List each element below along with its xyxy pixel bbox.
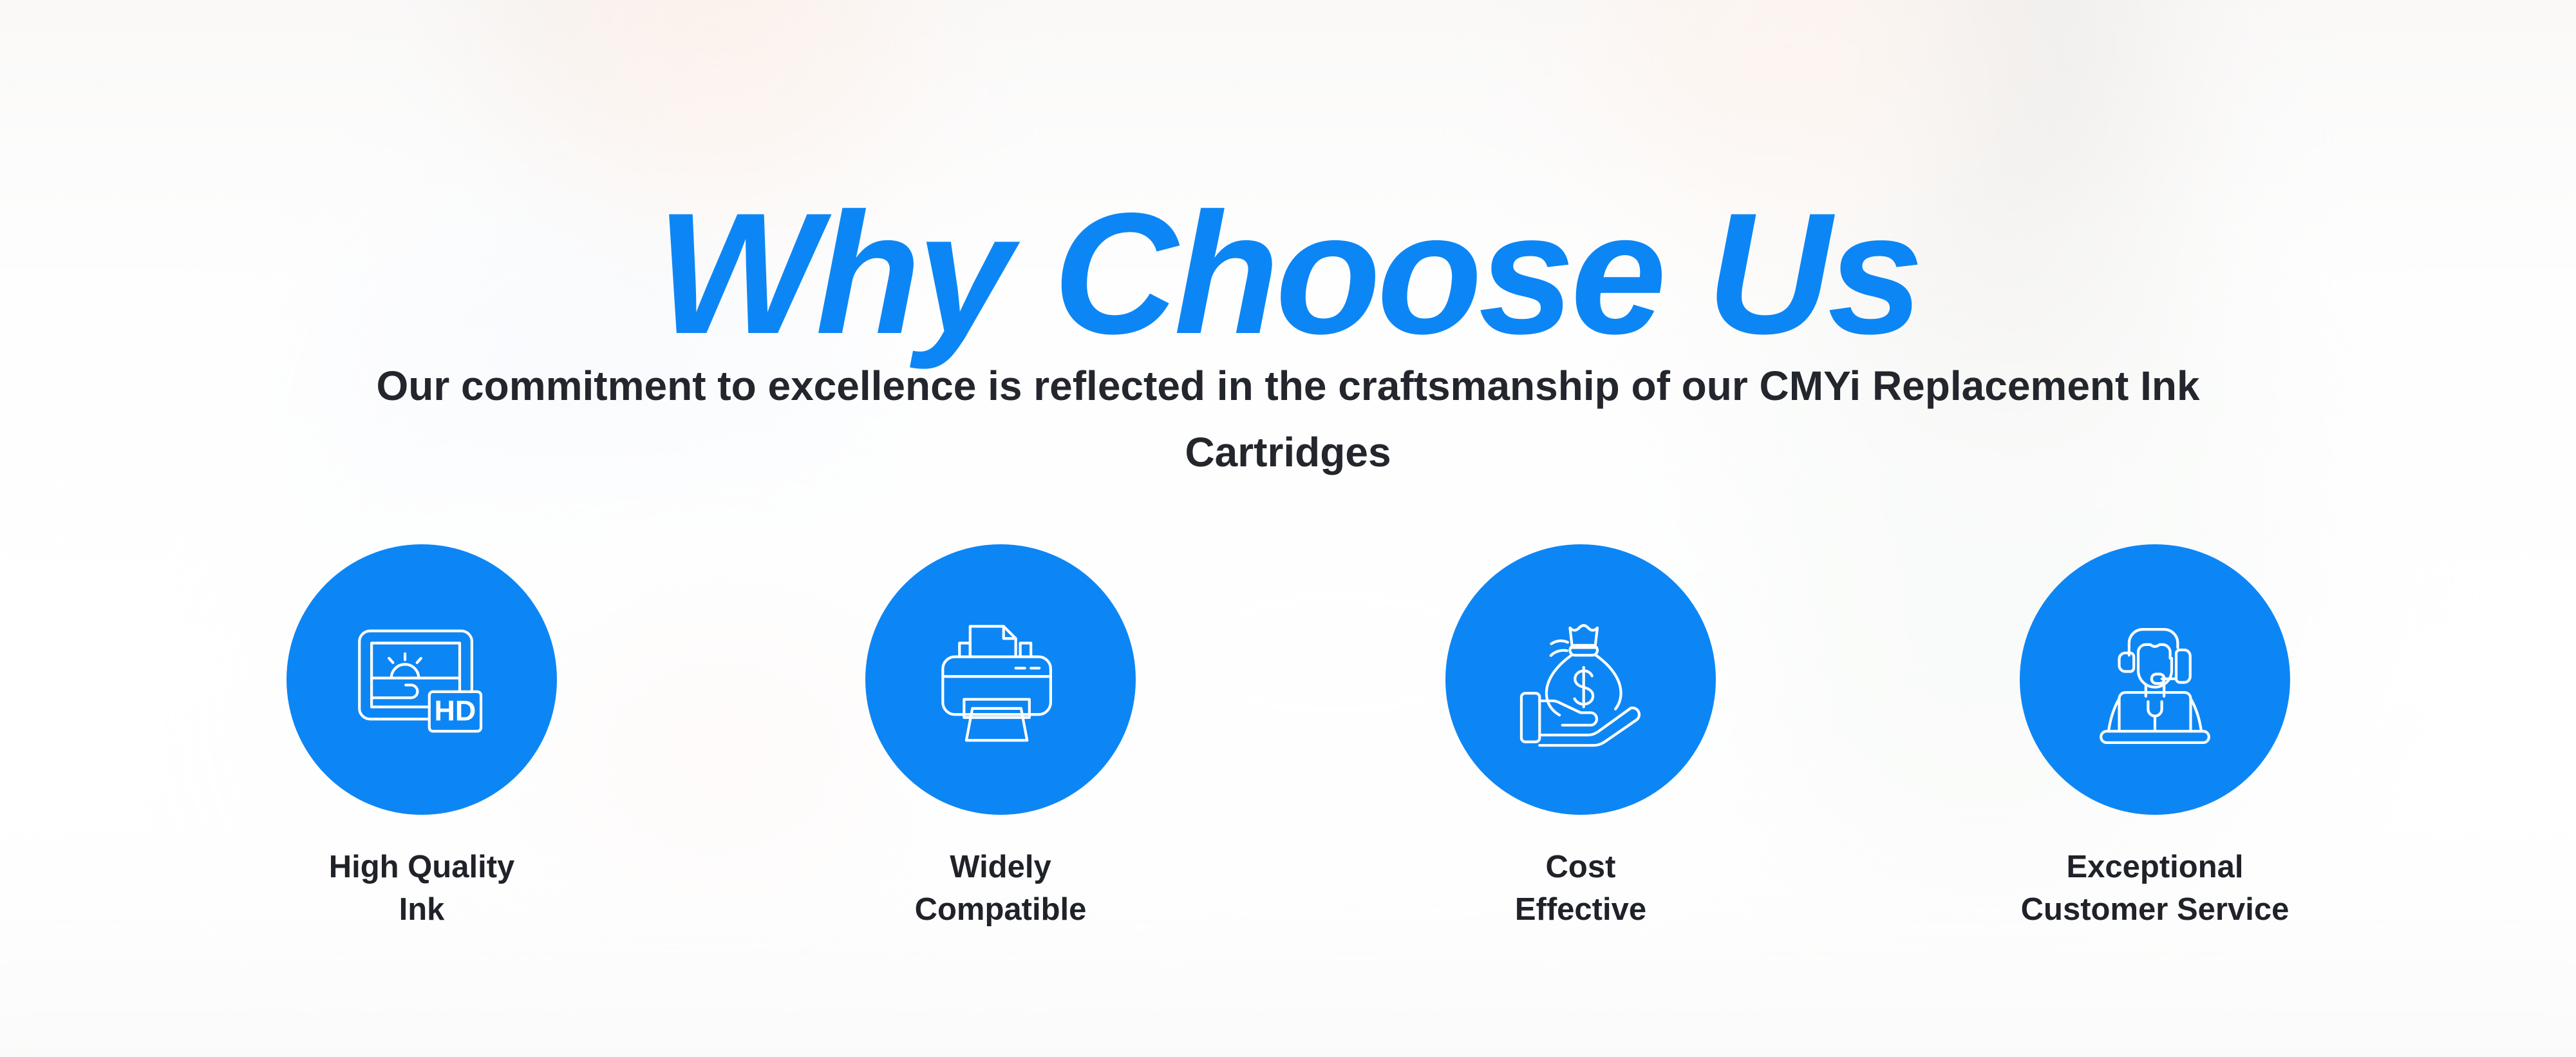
feature-label: Widely Compatible [833,846,1168,931]
why-choose-us-banner: Why Choose Us Our commitment to excellen… [0,0,2576,1057]
feature-icon-badge: HD [287,544,557,815]
feature-icon-badge [865,544,1136,815]
hand-holding-money-bag-icon [1505,604,1657,756]
feature-item-widely-compatible: Widely Compatible [833,544,1168,931]
feature-label: Exceptional Customer Service [1988,846,2322,931]
feature-label: High Quality Ink [254,846,589,931]
page-subtitle: Our commitment to excellence is reflecte… [361,353,2215,486]
feature-list: HD High Quality Ink [0,544,2576,944]
feature-item-cost-effective: Cost Effective [1413,544,1748,931]
printer-icon [925,604,1076,756]
page-title: Why Choose Us [0,187,2576,359]
hd-image-quality-icon: HD [346,604,498,756]
hd-badge-text: HD [435,694,476,727]
feature-item-customer-service: Exceptional Customer Service [1988,544,2322,931]
feature-item-high-quality-ink: HD High Quality Ink [254,544,589,931]
support-agent-headset-laptop-icon [2079,604,2231,756]
feature-label: Cost Effective [1413,846,1748,931]
feature-icon-badge [1445,544,1716,815]
feature-icon-badge [2020,544,2290,815]
